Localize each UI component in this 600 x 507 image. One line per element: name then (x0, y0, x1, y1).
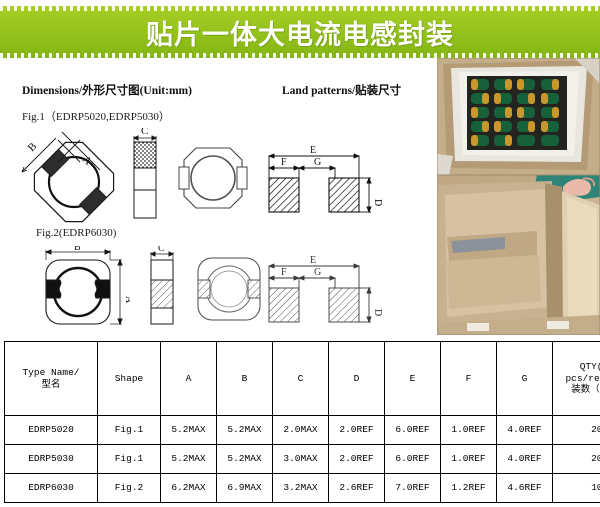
cell-shape: Fig.1 (98, 445, 161, 474)
banner-dashed-border-top (0, 6, 600, 11)
svg-text:E: E (310, 145, 316, 156)
fig1-land-pattern-drawing: E F G D (263, 144, 388, 222)
table-row: EDRP5020 Fig.1 5.2MAX 5.2MAX 2.0MAX 2.0R… (5, 416, 600, 445)
cell-a: 5.2MAX (161, 445, 217, 474)
cell-c: 3.0MAX (273, 445, 329, 474)
svg-text:G: G (314, 267, 321, 278)
svg-text:B: B (26, 140, 40, 154)
cell-qty: 1000 (553, 474, 600, 503)
col-header-g: G (497, 342, 553, 416)
fig2-bottom-view-drawing (190, 250, 268, 328)
cell-a: 5.2MAX (161, 416, 217, 445)
svg-text:E: E (310, 255, 316, 266)
product-spec-page: 贴片一体大电流电感封装 Dimensions/外形尺寸图(Unit:mm) La… (0, 0, 600, 507)
fig2-top-view-drawing: B A (30, 246, 130, 330)
cell-shape: Fig.1 (98, 416, 161, 445)
table-header-row: Type Name/ 型名 Shape A B C D E F G QTY(MP… (5, 342, 600, 416)
header-banner: 贴片一体大电流电感封装 (0, 6, 600, 58)
col-header-shape: Shape (98, 342, 161, 416)
cell-e: 6.0REF (385, 416, 441, 445)
cell-b: 6.9MAX (217, 474, 273, 503)
col-header-c: C (273, 342, 329, 416)
svg-text:F: F (281, 157, 287, 168)
technical-drawings-area: Dimensions/外形尺寸图(Unit:mm) Land patterns/… (0, 60, 437, 335)
svg-text:A: A (123, 296, 130, 304)
land-patterns-section-title: Land patterns/贴装尺寸 (282, 82, 401, 98)
fig1-label: Fig.1（EDRP5020,EDRP5030） (22, 108, 170, 124)
col-header-e: E (385, 342, 441, 416)
col-header-qty: QTY(MPQ) pcs/reel最小包 装数（个/盘） (553, 342, 600, 416)
reels-in-carton-photo (437, 58, 600, 175)
cell-type: EDRP5030 (5, 445, 98, 474)
cell-b: 5.2MAX (217, 416, 273, 445)
table-row: EDRP6030 Fig.2 6.2MAX 6.9MAX 3.2MAX 2.6R… (5, 474, 600, 503)
cell-d: 2.0REF (329, 445, 385, 474)
col-header-a: A (161, 342, 217, 416)
svg-text:D: D (372, 309, 383, 316)
cell-type: EDRP6030 (5, 474, 98, 503)
fig1-bottom-view-drawing (172, 136, 254, 222)
svg-text:G: G (314, 157, 321, 168)
svg-text:F: F (281, 267, 287, 278)
fig1-top-view-drawing: B A (18, 126, 130, 230)
cell-e: 7.0REF (385, 474, 441, 503)
cell-f: 1.0REF (441, 445, 497, 474)
cell-g: 4.6REF (497, 474, 553, 503)
cell-f: 1.2REF (441, 474, 497, 503)
svg-text:C: C (158, 246, 165, 254)
fig1-side-view-drawing: C (124, 128, 168, 230)
cell-d: 2.6REF (329, 474, 385, 503)
cell-e: 6.0REF (385, 445, 441, 474)
table-row: EDRP5030 Fig.1 5.2MAX 5.2MAX 3.0MAX 2.0R… (5, 445, 600, 474)
fig2-land-pattern-drawing: E F G D (263, 254, 388, 332)
dimensions-section-title: Dimensions/外形尺寸图(Unit:mm) (22, 82, 192, 98)
svg-text:B: B (74, 246, 81, 253)
cell-f: 1.0REF (441, 416, 497, 445)
page-title: 贴片一体大电流电感封装 (146, 13, 454, 52)
cell-g: 4.0REF (497, 416, 553, 445)
open-carton-photo (437, 175, 600, 335)
specification-table: Type Name/ 型名 Shape A B C D E F G QTY(MP… (4, 341, 596, 503)
cell-type: EDRP5020 (5, 416, 98, 445)
cell-qty: 2000 (553, 445, 600, 474)
cell-c: 2.0MAX (273, 416, 329, 445)
svg-text:D: D (372, 199, 383, 206)
col-header-f: F (441, 342, 497, 416)
cell-a: 6.2MAX (161, 474, 217, 503)
cell-d: 2.0REF (329, 416, 385, 445)
fig2-side-view-drawing: C (140, 246, 184, 330)
cell-b: 5.2MAX (217, 445, 273, 474)
cell-shape: Fig.2 (98, 474, 161, 503)
svg-text:C: C (141, 128, 148, 137)
cell-c: 3.2MAX (273, 474, 329, 503)
cell-qty: 2000 (553, 416, 600, 445)
cell-g: 4.0REF (497, 445, 553, 474)
col-header-b: B (217, 342, 273, 416)
col-header-type-name: Type Name/ 型名 (5, 342, 98, 416)
col-header-d: D (329, 342, 385, 416)
